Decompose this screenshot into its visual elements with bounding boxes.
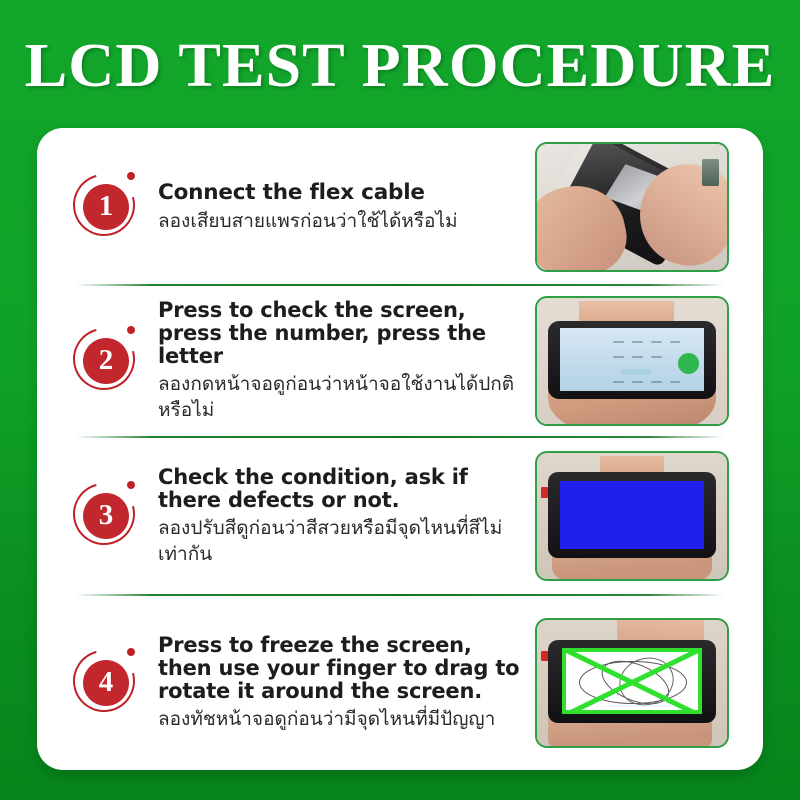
photo-blue-screen-test-image	[537, 453, 727, 579]
step-badge-4: 4	[71, 644, 149, 722]
steps-list: 1 Connect the flex cable ลองเสียบสายแพรก…	[37, 128, 763, 770]
step-row-3: 3 Check the condition, ask if there defe…	[37, 437, 763, 595]
step-row-1: 1 Connect the flex cable ลองเสียบสายแพรก…	[37, 128, 763, 285]
steps-card: 1 Connect the flex cable ลองเสียบสายแพรก…	[37, 128, 763, 770]
photo-blue-screen-test	[535, 451, 729, 581]
badge-circle: 3	[83, 493, 129, 539]
photo-dialer-screen	[535, 296, 729, 426]
step-badge-1: 1	[71, 168, 149, 246]
step-title-th: ลองกดหน้าจอดูก่อนว่าหน้าจอใช้งานได้ปกติห…	[158, 371, 527, 423]
photo-flex-cable	[535, 142, 729, 272]
badge-dot-icon	[127, 481, 135, 489]
badge-circle: 4	[83, 660, 129, 706]
photo-dialer-screen-image	[537, 298, 727, 424]
badge-dot-icon	[127, 172, 135, 180]
step-badge-3: 3	[71, 477, 149, 555]
photo-touch-test-image	[537, 620, 727, 746]
poster-root: LCD TEST PROCEDURE 1 Connect the flex ca…	[0, 0, 800, 800]
step-title-th: ลองเสียบสายแพรก่อนว่าใช้ได้หรือไม่	[158, 208, 527, 234]
step-number: 1	[99, 192, 114, 221]
step-text-2: Press to check the screen, press the num…	[149, 299, 535, 423]
step-number: 4	[99, 668, 114, 697]
badge-circle: 2	[83, 338, 129, 384]
step-title-en: Connect the flex cable	[158, 180, 527, 205]
step-title-en: Press to check the screen, press the num…	[158, 299, 527, 368]
step-text-3: Check the condition, ask if there defect…	[149, 466, 535, 567]
step-title-th: ลองปรับสีดูก่อนว่าสีสวยหรือมีจุดไหนที่สี…	[158, 515, 527, 567]
step-title-en: Press to freeze the screen, then use you…	[158, 634, 527, 703]
step-number: 3	[99, 501, 114, 530]
step-row-2: 2 Press to check the screen, press the n…	[37, 285, 763, 437]
step-text-4: Press to freeze the screen, then use you…	[149, 634, 535, 732]
badge-dot-icon	[127, 326, 135, 334]
badge-dot-icon	[127, 648, 135, 656]
page-title: LCD TEST PROCEDURE	[0, 34, 800, 98]
step-title-en: Check the condition, ask if there defect…	[158, 466, 527, 512]
step-number: 2	[99, 346, 114, 375]
badge-circle: 1	[83, 184, 129, 230]
step-title-th: ลองทัชหน้าจอดูก่อนว่ามีจุดไหนที่มีปัญญา	[158, 706, 527, 732]
step-badge-2: 2	[71, 322, 149, 400]
step-text-1: Connect the flex cable ลองเสียบสายแพรก่อ…	[149, 180, 535, 234]
step-row-4: 4 Press to freeze the screen, then use y…	[37, 595, 763, 770]
photo-touch-test	[535, 618, 729, 748]
photo-flex-cable-image	[537, 144, 727, 270]
